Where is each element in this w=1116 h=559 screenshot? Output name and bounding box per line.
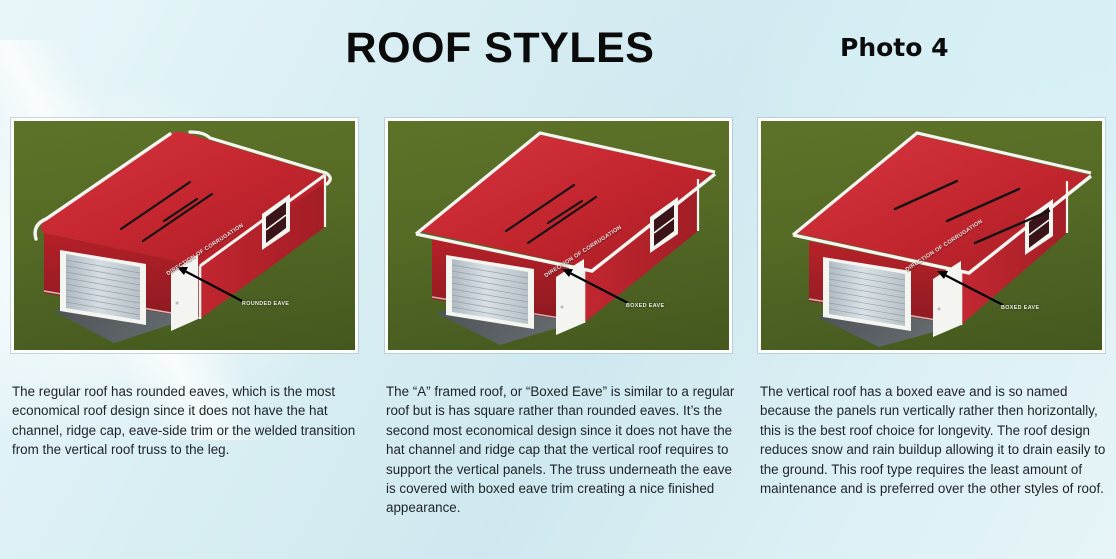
building-illustration-a-frame-roof: [388, 121, 729, 350]
photo-panel-regular-roof: DIRECTION OF CORRUGATION ROUNDED EAVE: [11, 118, 358, 353]
door-knob-icon: [938, 308, 941, 311]
caption-regular-roof: The regular roof has rounded eaves, whic…: [12, 382, 362, 460]
caption-vertical-roof: The vertical roof has a boxed eave and i…: [760, 382, 1108, 498]
label-boxed-eave: BOXED EAVE: [1001, 305, 1039, 311]
scene-a-frame-roof: DIRECTION OF CORRUGATION BOXED EAVE: [388, 121, 729, 350]
building-illustration-vertical-roof: [761, 121, 1102, 350]
header: ROOF STYLES Photo 4: [0, 0, 1116, 100]
scene-regular-roof: DIRECTION OF CORRUGATION ROUNDED EAVE: [14, 121, 355, 350]
photo-panel-vertical-roof: DIRECTION OF CORRUGATION BOXED EAVE: [758, 118, 1105, 353]
door-knob-icon: [176, 302, 179, 305]
door-knob-icon: [561, 306, 564, 309]
scene-vertical-roof: DIRECTION OF CORRUGATION BOXED EAVE: [761, 121, 1102, 350]
photo-number-label: Photo 4: [840, 33, 949, 62]
label-boxed-eave: BOXED EAVE: [626, 303, 664, 309]
label-rounded-eave: ROUNDED EAVE: [242, 301, 289, 307]
photo-panel-a-frame-roof: DIRECTION OF CORRUGATION BOXED EAVE: [385, 118, 732, 353]
caption-a-frame-roof: The “A” framed roof, or “Boxed Eave” is …: [386, 382, 738, 518]
building-illustration-regular-roof: [14, 121, 355, 350]
